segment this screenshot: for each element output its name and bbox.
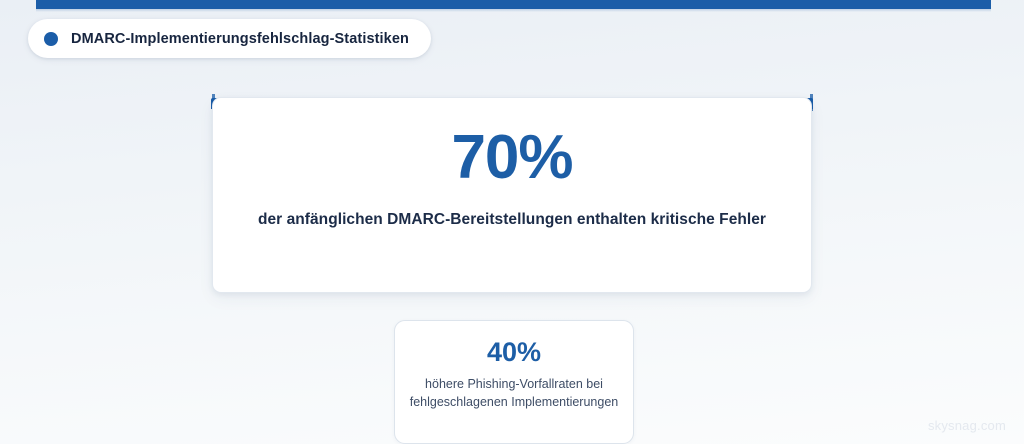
secondary-stat-caption: höhere Phishing-Vorfallraten bei fehlges… (407, 375, 621, 411)
title-badge-label: DMARC-Implementierungsfehlschlag-Statist… (71, 31, 409, 47)
primary-stat-card: 70% der anfänglichen DMARC-Bereitstellun… (212, 97, 812, 293)
secondary-stat-value: 40% (395, 339, 633, 366)
primary-stat-value: 70% (213, 127, 811, 189)
top-accent-bar (36, 0, 991, 9)
top-accent-bar-shadow (36, 9, 991, 12)
secondary-stat-card: 40% höhere Phishing-Vorfallraten bei feh… (394, 320, 634, 444)
title-badge[interactable]: DMARC-Implementierungsfehlschlag-Statist… (28, 19, 431, 58)
watermark: skysnag.com (928, 418, 1006, 433)
primary-stat-caption: der anfänglichen DMARC-Bereitstellungen … (213, 211, 811, 229)
infographic-canvas: DMARC-Implementierungsfehlschlag-Statist… (0, 0, 1024, 444)
bullet-dot-icon (44, 32, 58, 46)
